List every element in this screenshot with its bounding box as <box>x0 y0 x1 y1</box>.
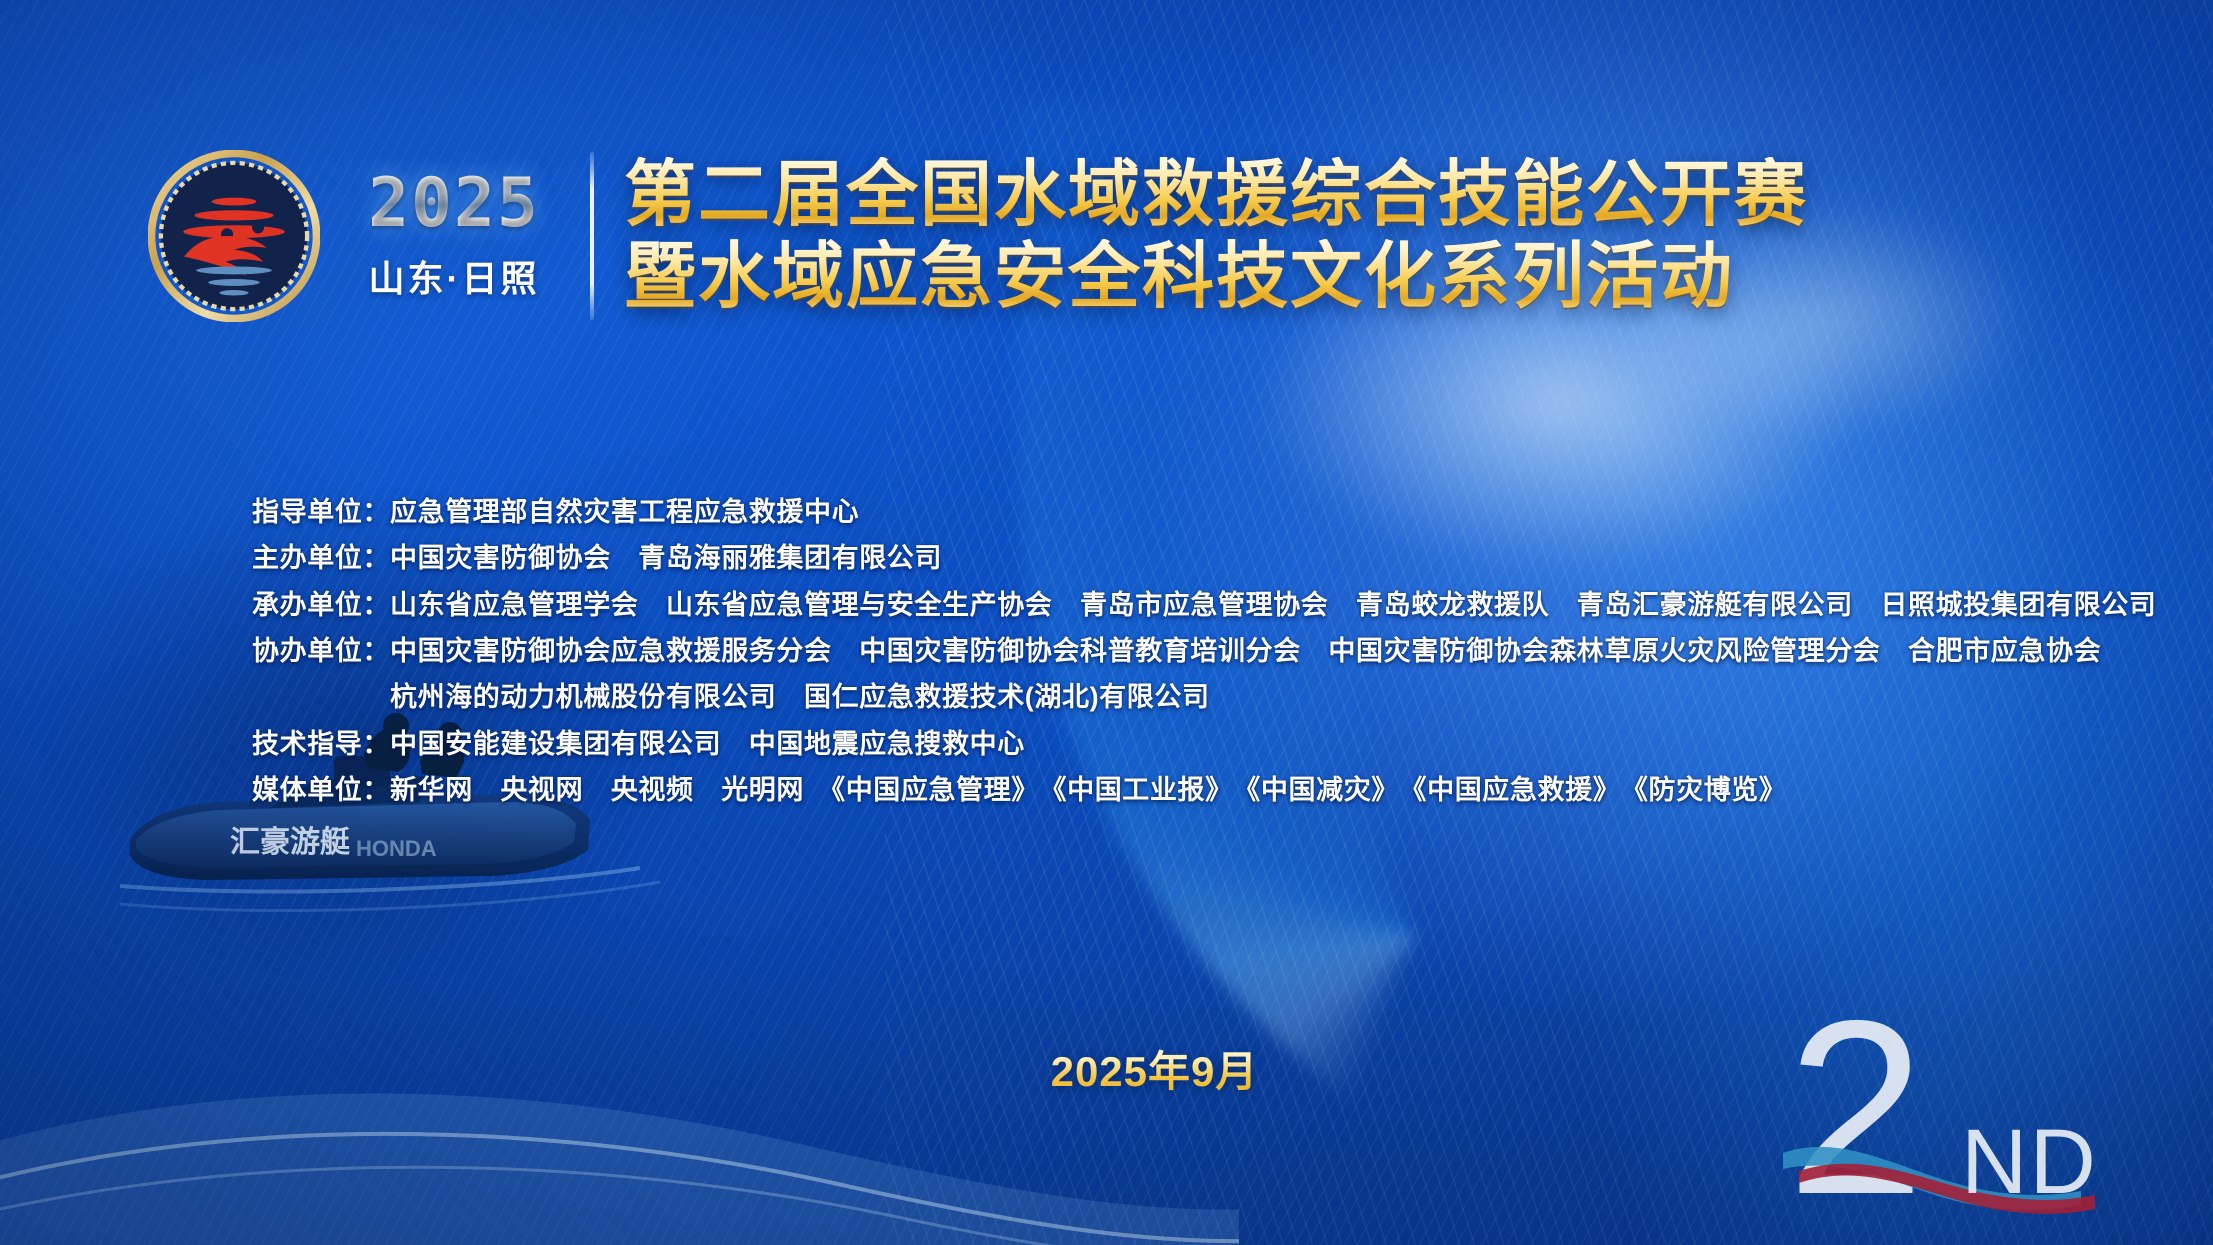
title-line-1: 第二届全国水域救援综合技能公开赛 <box>624 157 1808 233</box>
org-label: 主办单位： <box>252 539 390 577</box>
svg-text:HONDA: HONDA <box>356 836 437 861</box>
title-line-2: 暨水域应急安全科技文化系列活动 <box>624 239 1808 315</box>
org-label: 协办单位： <box>252 632 390 670</box>
organizations-block: 指导单位： 应急管理部自然灾害工程应急救援中心 主办单位： 中国灾害防御协会 青… <box>252 493 2156 809</box>
org-row: 主办单位： 中国灾害防御协会 青岛海丽雅集团有限公司 <box>252 539 2156 577</box>
org-row: 指导单位： 应急管理部自然灾害工程应急救援中心 <box>252 493 2156 531</box>
org-label: 技术指导： <box>252 725 390 763</box>
org-label: 媒体单位： <box>252 771 390 809</box>
org-row-continuation: 协办单位： 杭州海的动力机械股份有限公司 国仁应急救援技术(湖北)有限公司 <box>252 678 2156 716</box>
second-mark-suffix: ND <box>1961 1111 2098 1213</box>
svg-text:汇豪游艇: 汇豪游艇 <box>230 825 350 859</box>
second-mark-numeral: 2 <box>1787 985 1925 1235</box>
org-label: 指导单位： <box>252 493 390 531</box>
poster-canvas: 汇豪游艇 HONDA <box>0 0 2213 1245</box>
event-emblem-icon <box>148 150 320 322</box>
org-row: 协办单位： 中国灾害防御协会应急救援服务分会 中国灾害防御协会科普教育培训分会 … <box>252 632 2156 670</box>
org-row: 媒体单位： 新华网 央视网 央视频 光明网 《中国应急管理》 《中国工业报》 《… <box>252 771 2156 809</box>
org-value: 中国灾害防御协会 青岛海丽雅集团有限公司 <box>390 539 942 577</box>
org-value: 山东省应急管理学会 山东省应急管理与安全生产协会 青岛市应急管理协会 青岛蛟龙救… <box>390 586 2156 624</box>
org-label: 承办单位： <box>252 586 390 624</box>
org-value: 中国安能建设集团有限公司 中国地震应急搜救中心 <box>390 725 1025 763</box>
year-city-block: 2025 山东·日照 <box>344 170 564 302</box>
second-edition-mark: 2 ND <box>1765 985 2135 1235</box>
org-value: 杭州海的动力机械股份有限公司 国仁应急救援技术(湖北)有限公司 <box>390 678 1210 716</box>
org-row: 承办单位： 山东省应急管理学会 山东省应急管理与安全生产协会 青岛市应急管理协会… <box>252 586 2156 624</box>
org-value: 应急管理部自然灾害工程应急救援中心 <box>390 493 859 531</box>
poster-header: 2025 山东·日照 第二届全国水域救援综合技能公开赛 暨水域应急安全科技文化系… <box>148 150 1808 322</box>
org-value: 新华网 央视网 央视频 光明网 《中国应急管理》 《中国工业报》 《中国减灾》 … <box>390 771 1787 809</box>
year-label: 2025 <box>368 170 540 238</box>
org-row: 技术指导： 中国安能建设集团有限公司 中国地震应急搜救中心 <box>252 725 2156 763</box>
event-date-text: 2025年9月 <box>955 1048 1259 1095</box>
title-group: 第二届全国水域救援综合技能公开赛 暨水域应急安全科技文化系列活动 <box>624 157 1808 316</box>
org-value: 中国灾害防御协会应急救援服务分会 中国灾害防御协会科普教育培训分会 中国灾害防御… <box>390 632 2101 670</box>
city-label: 山东·日照 <box>369 250 540 302</box>
header-divider <box>590 152 594 320</box>
